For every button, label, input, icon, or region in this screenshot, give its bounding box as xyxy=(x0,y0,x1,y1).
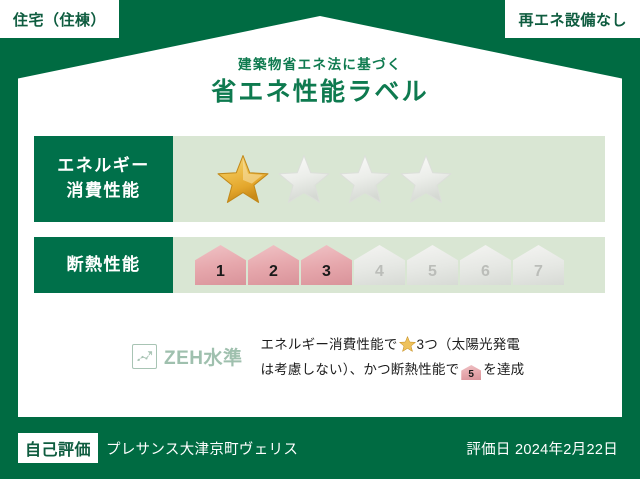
zeh-desc-part3: を達成 xyxy=(483,362,524,377)
grade-badge-6: 6 xyxy=(460,245,511,285)
zeh-desc-star-count: 3つ（太陽光発電 xyxy=(417,337,521,352)
footer-left: 自己評価 プレサンス大津京町ヴェリス xyxy=(0,433,298,463)
energy-performance-value xyxy=(173,136,605,222)
grade-badge-7: 7 xyxy=(513,245,564,285)
inline-grade-badge: 5 xyxy=(461,365,481,380)
energy-performance-label: 住宅（住棟） 再エネ設備なし 建築物省エネ法に基づく 省エネ性能ラベル エネルギ… xyxy=(0,0,640,479)
star-icon-4-empty xyxy=(400,154,452,204)
zeh-section: ZEH水準 エネルギー消費性能で3つ（太陽光発電は考慮しない）、かつ断熱性能で5… xyxy=(34,333,605,383)
zeh-desc-part2: は考慮しない）、かつ断熱性能で xyxy=(261,362,460,377)
star-icon-1-filled xyxy=(217,154,269,204)
grade-badge-3: 3 xyxy=(301,245,352,285)
energy-performance-row: エネルギー 消費性能 xyxy=(34,136,605,222)
star-icon-2-empty xyxy=(278,154,330,204)
insulation-performance-row: 断熱性能 1 2 3 4 5 6 7 xyxy=(34,237,605,293)
building-name: プレサンス大津京町ヴェリス xyxy=(106,438,298,459)
star-icon-3-empty xyxy=(339,154,391,204)
building-type-tag: 住宅（住棟） xyxy=(0,0,119,38)
energy-label-line1: エネルギー xyxy=(57,154,150,179)
evaluation-type-tag: 自己評価 xyxy=(18,433,98,463)
grade-badge-5: 5 xyxy=(407,245,458,285)
zeh-mark: ZEH水準 xyxy=(34,333,243,370)
zeh-trend-icon xyxy=(132,344,157,369)
title-subtitle: 建築物省エネ法に基づく xyxy=(18,56,622,74)
zeh-mark-label: ZEH水準 xyxy=(164,343,243,370)
zeh-description: エネルギー消費性能で3つ（太陽光発電は考慮しない）、かつ断熱性能で5を達成 xyxy=(243,333,605,383)
footer: 自己評価 プレサンス大津京町ヴェリス 評価日 2024年2月22日 xyxy=(0,417,640,479)
evaluation-date: 評価日 2024年2月22日 xyxy=(466,438,640,459)
grade-badge-2: 2 xyxy=(248,245,299,285)
grade-rating: 1 2 3 4 5 6 7 xyxy=(195,245,564,285)
renewable-energy-tag: 再エネ設備なし xyxy=(505,0,640,38)
grade-badge-4: 4 xyxy=(354,245,405,285)
grade-badge-1: 1 xyxy=(195,245,246,285)
title-main: 省エネ性能ラベル xyxy=(18,76,622,110)
insulation-performance-label: 断熱性能 xyxy=(34,237,173,293)
star-rating xyxy=(217,154,452,204)
energy-label-line2: 消費性能 xyxy=(57,179,150,204)
insulation-performance-value: 1 2 3 4 5 6 7 xyxy=(173,237,605,293)
energy-performance-label: エネルギー 消費性能 xyxy=(34,136,173,222)
insulation-label-line1: 断熱性能 xyxy=(67,253,141,278)
zeh-desc-part1: エネルギー消費性能で xyxy=(261,337,398,352)
page-title: 建築物省エネ法に基づく 省エネ性能ラベル xyxy=(18,56,622,109)
inline-star-icon xyxy=(399,336,416,352)
